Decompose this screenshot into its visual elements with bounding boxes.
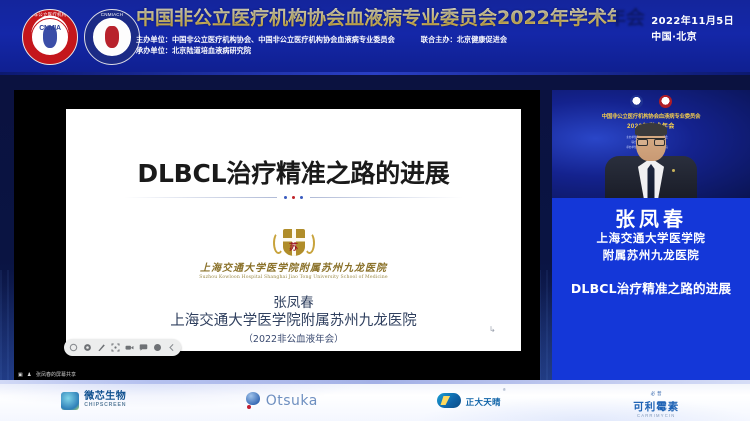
- chipscreen-name-en: CHIPSCREEN: [84, 403, 126, 408]
- divider-line-left: [124, 197, 277, 198]
- zhengda-mark-icon: [437, 393, 461, 408]
- slide-speaker-affiliation: 上海交通大学医学院附属苏州九龙医院: [66, 312, 521, 331]
- crest-shield-character: 苏: [283, 240, 305, 253]
- crest-shield-icon: 苏: [283, 229, 305, 256]
- hospital-logo: 苏 上海交通大学医学院附属苏州九龙医院 Suzhou Kowloon Hospi…: [66, 227, 521, 280]
- otsuka-mark-icon: [245, 392, 261, 410]
- speaker-lapel-pin-icon: [672, 169, 675, 172]
- kelinaisu-name-cn: 可利霉素: [633, 401, 679, 413]
- conference-date-location: 2022年11月5日 中国·北京: [651, 14, 734, 46]
- video-backdrop-seals: [552, 95, 750, 108]
- divider-dots: [277, 196, 310, 199]
- organizer-text: 主办单位：中国非公立医疗机构协会、中国非公立医疗机构协会血液病专业委员会: [136, 35, 395, 44]
- screen-share-label-text: 张凤春的屏幕共享: [36, 371, 76, 378]
- banner-text-block: 中国非公立医疗机构协会血液病专业委员会2022年学术年会 主办单位：中国非公立医…: [136, 8, 616, 56]
- conference-title: 中国非公立医疗机构协会血液病专业委员会2022年学术年会: [136, 8, 616, 29]
- chat-bubble-icon[interactable]: [139, 343, 148, 352]
- annotate-pen-icon[interactable]: [97, 343, 106, 352]
- screen-share-label: ▣ ♟ 张凤春的屏幕共享: [18, 371, 76, 378]
- speaker-hair: [635, 123, 667, 136]
- speaker-affiliation-line-2: 附属苏州九龙医院: [552, 247, 750, 264]
- zhengda-registered-mark: ®: [503, 387, 506, 392]
- organizer-row: 主办单位：中国非公立医疗机构协会、中国非公立医疗机构协会血液病专业委员会联合主办…: [136, 34, 616, 45]
- presentation-slide[interactable]: DLBCL治疗精准之路的进展 苏 上海交通大学医学院附属苏州九龙医院 Suzho…: [66, 109, 521, 351]
- chipscreen-mark-icon: [61, 392, 79, 410]
- cnmiach-seal-emblem-icon: [105, 26, 119, 48]
- collapse-chevron-left-icon[interactable]: [167, 343, 176, 352]
- divider-dot-blue-left: [284, 196, 287, 199]
- person-icon: ♟: [27, 372, 33, 378]
- speaker-affiliation-line-1: 上海交通大学医学院: [552, 230, 750, 247]
- slide-title: DLBCL治疗精准之路的进展: [66, 154, 521, 190]
- mouse-cursor-icon: ↳: [489, 326, 493, 333]
- fullscreen-expand-icon[interactable]: [111, 343, 120, 352]
- crest-wreath-right-icon: [304, 232, 315, 254]
- backdrop-seal-left-icon: [630, 95, 643, 108]
- hospital-name-en: Suzhou Kowloon Hospital Shanghai Jiao To…: [199, 275, 388, 280]
- hospital-name-cn: 上海交通大学医学院附属苏州九龙医院: [200, 259, 387, 274]
- screen-share-toolbar[interactable]: [64, 339, 181, 356]
- speaker-affiliation: 上海交通大学医学院 附属苏州九龙医院: [552, 230, 750, 265]
- cnmia-seal-icon: 中国非公立医疗机构协会 CNMIA: [22, 9, 78, 65]
- hospital-crest-icon: 苏: [273, 227, 315, 257]
- cnmia-seal-abbrev: CNMIA: [32, 25, 68, 32]
- chipscreen-name-cn: 微芯生物: [84, 392, 126, 402]
- slide-speaker-name: 张凤春: [66, 294, 521, 312]
- more-options-icon[interactable]: [153, 343, 162, 352]
- kelinaisu-small-text: 必 普: [651, 391, 662, 396]
- speaker-tie: [648, 164, 655, 198]
- divider-dot-blue-right: [300, 196, 303, 199]
- cnmiach-seal-icon: CNMIACH: [84, 9, 140, 65]
- co-organizer-text: 联合主办：北京健康促进会: [421, 35, 507, 44]
- speaker-panel[interactable]: 中国非公立医疗机构协会血液病专业委员会 2022年学术年会 主办单位：中国非公立…: [552, 90, 750, 380]
- speaker-glasses-icon: [637, 138, 665, 145]
- zhengda-name-cn: 正大天晴: [466, 398, 501, 408]
- video-backdrop-title: 中国非公立医疗机构协会血液病专业委员会: [560, 112, 742, 120]
- conference-location: 中国·北京: [651, 30, 734, 46]
- conference-date: 2022年11月5日: [651, 14, 734, 30]
- speaker-topic: DLBCL治疗精准之路的进展: [552, 278, 750, 297]
- divider-line-right: [310, 197, 463, 198]
- sponsor-logo-chipscreen[interactable]: 微芯生物 CHIPSCREEN: [0, 392, 188, 410]
- sponsor-logo-otsuka[interactable]: Otsuka: [188, 392, 376, 410]
- cnmia-seal-ring-top: 中国非公立医疗机构协会: [23, 12, 77, 18]
- sponsor-logo-kelinaisu[interactable]: 必 普 可利霉素 CARRIMYCIN: [563, 382, 750, 418]
- association-seals: 中国非公立医疗机构协会 CNMIA CNMIACH: [22, 9, 140, 65]
- host-row: 承办单位：北京陆道培血液病研究院: [136, 45, 616, 56]
- conference-livestream-screen: 中国非公立医疗机构协会 CNMIA CNMIACH 中国非公立医疗机构协会血液病…: [0, 0, 750, 421]
- video-camera-icon[interactable]: [125, 343, 134, 352]
- otsuka-name: Otsuka: [266, 393, 318, 409]
- cnmiach-seal-ring-top: CNMIACH: [85, 12, 139, 17]
- record-dot-icon[interactable]: [69, 343, 78, 352]
- sponsor-logos: 微芯生物 CHIPSCREEN Otsuka 正大天晴 ® 必 普: [0, 380, 750, 421]
- speaker-video-tile[interactable]: 中国非公立医疗机构协会血液病专业委员会 2022年学术年会 主办单位：中国非公立…: [552, 90, 750, 198]
- speaker-figure: [605, 124, 697, 198]
- kelinaisu-name-en: CARRIMYCIN: [633, 414, 679, 419]
- conference-banner: 中国非公立医疗机构协会 CNMIA CNMIACH 中国非公立医疗机构协会血液病…: [0, 0, 750, 75]
- backdrop-seal-right-icon: [659, 95, 672, 108]
- sponsor-logo-zhengda-tianqing[interactable]: 正大天晴 ®: [375, 392, 563, 410]
- slide-divider: [124, 194, 463, 200]
- camera-icon: ▣: [18, 372, 24, 378]
- divider-dot-red: [292, 196, 295, 199]
- sponsor-bar: 微芯生物 CHIPSCREEN Otsuka 正大天晴 ® 必 普: [0, 380, 750, 421]
- settings-gear-icon[interactable]: [83, 343, 92, 352]
- banner-subtitle-block: 主办单位：中国非公立医疗机构协会、中国非公立医疗机构协会血液病专业委员会联合主办…: [136, 34, 616, 56]
- speaker-name: 张凤春: [552, 203, 750, 232]
